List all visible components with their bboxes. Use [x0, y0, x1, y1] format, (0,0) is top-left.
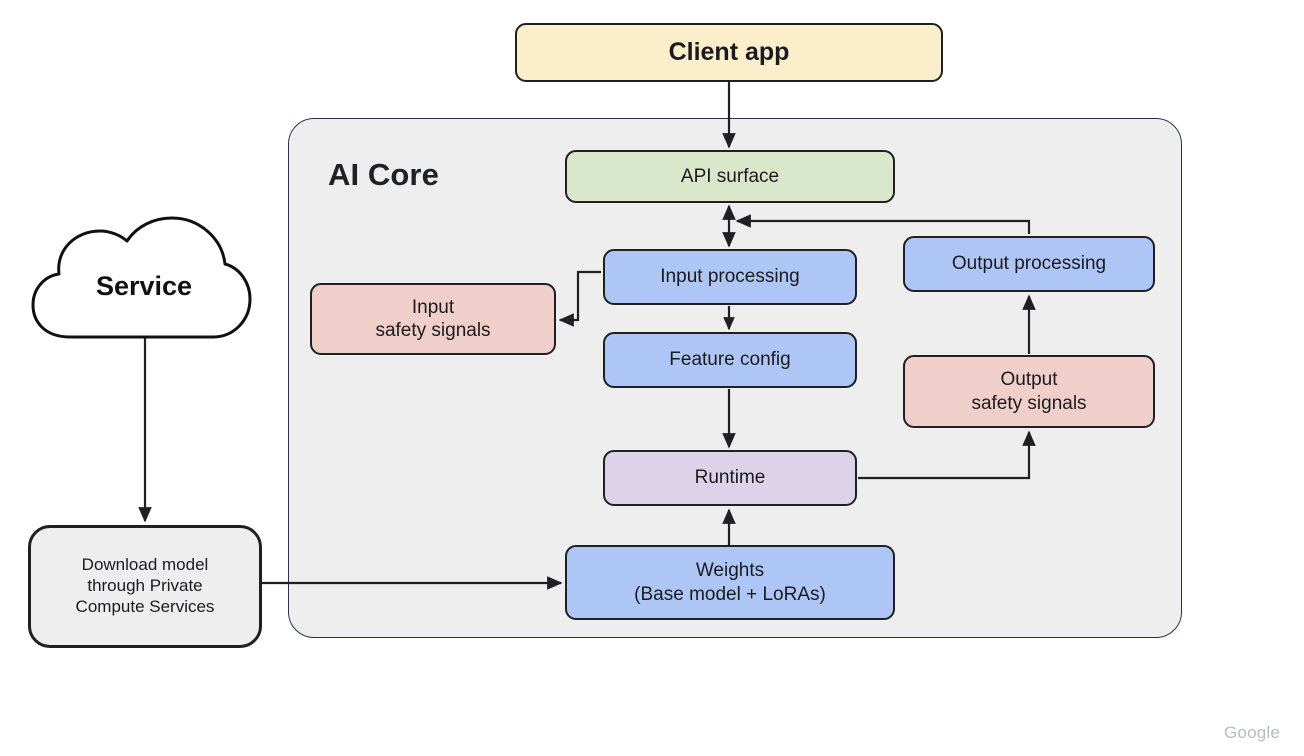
- node-api-surface-label: API surface: [681, 165, 779, 188]
- node-download-model[interactable]: Download model through Private Compute S…: [28, 525, 262, 648]
- node-weights-line1: Weights: [634, 559, 826, 582]
- node-client-app-label: Client app: [669, 37, 790, 68]
- node-input-safety-signals[interactable]: Input safety signals: [310, 283, 556, 355]
- service-label: Service: [38, 271, 250, 302]
- node-output-processing[interactable]: Output processing: [903, 236, 1155, 292]
- node-feature-config[interactable]: Feature config: [603, 332, 857, 388]
- node-weights-line2: (Base model + LoRAs): [634, 583, 826, 606]
- ai-core-title: AI Core: [328, 157, 439, 193]
- node-input-safety-line1: Input: [375, 296, 490, 319]
- node-output-processing-label: Output processing: [952, 252, 1106, 275]
- node-runtime[interactable]: Runtime: [603, 450, 857, 506]
- node-feature-config-label: Feature config: [669, 348, 790, 371]
- node-input-processing-label: Input processing: [660, 265, 799, 288]
- node-input-processing[interactable]: Input processing: [603, 249, 857, 305]
- node-runtime-label: Runtime: [695, 466, 766, 489]
- node-download-line1: Download model: [76, 555, 215, 576]
- node-weights[interactable]: Weights (Base model + LoRAs): [565, 545, 895, 620]
- node-input-safety-line2: safety signals: [375, 319, 490, 342]
- node-download-line3: Compute Services: [76, 597, 215, 618]
- node-api-surface[interactable]: API surface: [565, 150, 895, 203]
- node-output-safety-line1: Output: [971, 368, 1086, 391]
- node-download-line2: through Private: [76, 576, 215, 597]
- diagram-canvas: AI Core: [0, 0, 1304, 756]
- google-watermark: Google: [1224, 723, 1280, 743]
- node-client-app[interactable]: Client app: [515, 23, 943, 82]
- node-output-safety-line2: safety signals: [971, 392, 1086, 415]
- node-output-safety-signals[interactable]: Output safety signals: [903, 355, 1155, 428]
